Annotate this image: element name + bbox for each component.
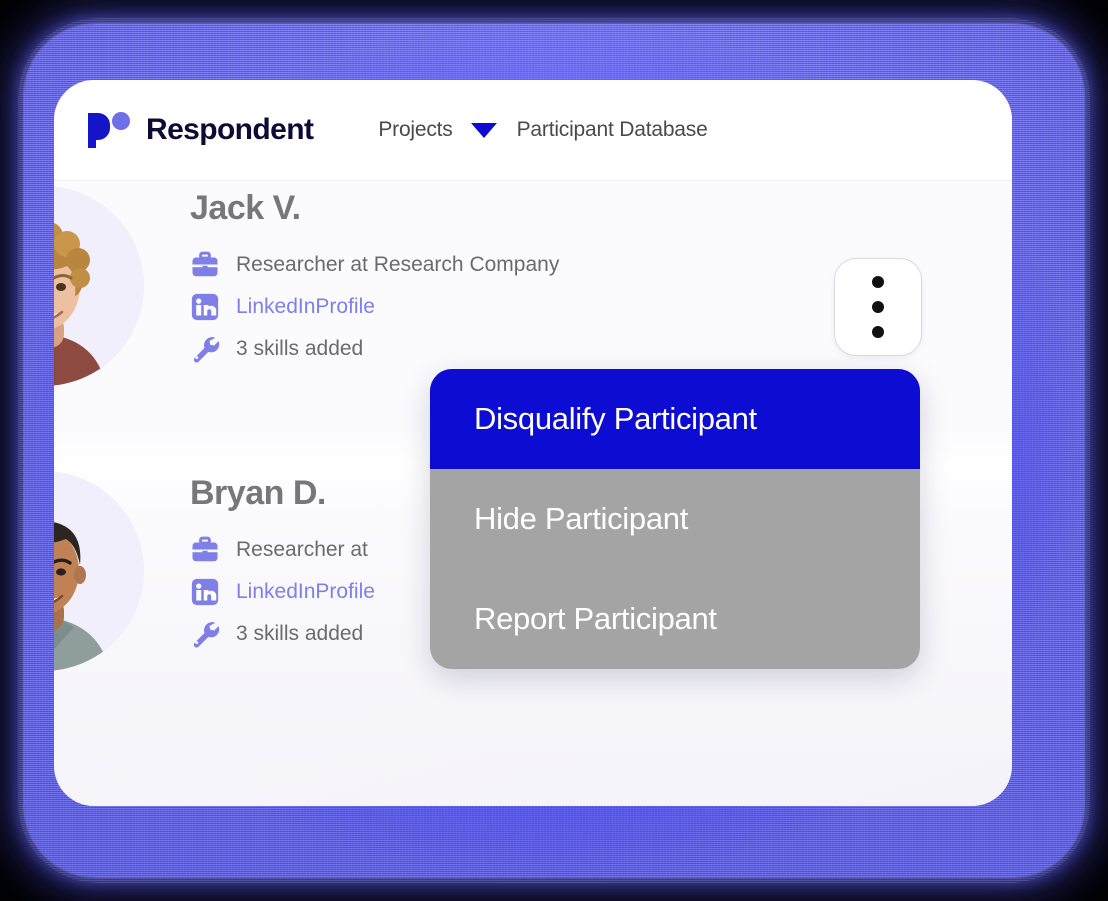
linkedin-icon bbox=[190, 577, 220, 607]
participant-linkedin-link[interactable]: LinkedInProfile bbox=[236, 295, 375, 319]
nav-item-projects[interactable]: Projects bbox=[378, 118, 452, 142]
participant-name: Bryan D. bbox=[190, 474, 375, 513]
participant-skills-line: 3 skills added bbox=[190, 334, 559, 364]
more-vertical-icon bbox=[872, 326, 884, 338]
chevron-down-icon[interactable] bbox=[471, 123, 497, 138]
more-vertical-icon bbox=[872, 276, 884, 288]
briefcase-icon bbox=[190, 535, 220, 565]
participant-linkedin-line[interactable]: LinkedInProfile bbox=[190, 577, 375, 607]
screenshot-stage: Respondent Projects Participant Database bbox=[0, 0, 1108, 901]
linkedin-icon bbox=[190, 292, 220, 322]
briefcase-icon bbox=[190, 250, 220, 280]
participant-role-line: Researcher at bbox=[190, 535, 375, 565]
participant-linkedin-line[interactable]: LinkedInProfile bbox=[190, 292, 559, 322]
participant-role: Researcher at Research Company bbox=[236, 253, 559, 277]
participant-role: Researcher at bbox=[236, 538, 368, 562]
participant-linkedin-link[interactable]: LinkedInProfile bbox=[236, 580, 375, 604]
menu-item-report-participant[interactable]: Report Participant bbox=[430, 569, 920, 669]
brand[interactable]: Respondent bbox=[86, 110, 313, 150]
menu-item-hide-participant[interactable]: Hide Participant bbox=[430, 469, 920, 569]
participant-skills: 3 skills added bbox=[236, 337, 363, 361]
nav-item-participant-database[interactable]: Participant Database bbox=[517, 118, 708, 142]
brand-name: Respondent bbox=[146, 113, 313, 147]
main-nav: Projects Participant Database bbox=[378, 118, 707, 142]
wrench-icon bbox=[190, 619, 220, 649]
menu-item-disqualify-participant[interactable]: Disqualify Participant bbox=[430, 369, 920, 469]
participant-role-line: Researcher at Research Company bbox=[190, 250, 559, 280]
context-menu: Disqualify Participant Hide Participant … bbox=[430, 369, 920, 669]
wrench-icon bbox=[190, 334, 220, 364]
participant-skills-line: 3 skills added bbox=[190, 619, 375, 649]
respondent-logo-icon bbox=[86, 110, 132, 150]
participant-name: Jack V. bbox=[190, 189, 559, 228]
participant-skills: 3 skills added bbox=[236, 622, 363, 646]
app-header: Respondent Projects Participant Database bbox=[54, 80, 1012, 181]
more-vertical-icon bbox=[872, 301, 884, 313]
more-options-button[interactable] bbox=[834, 258, 922, 356]
